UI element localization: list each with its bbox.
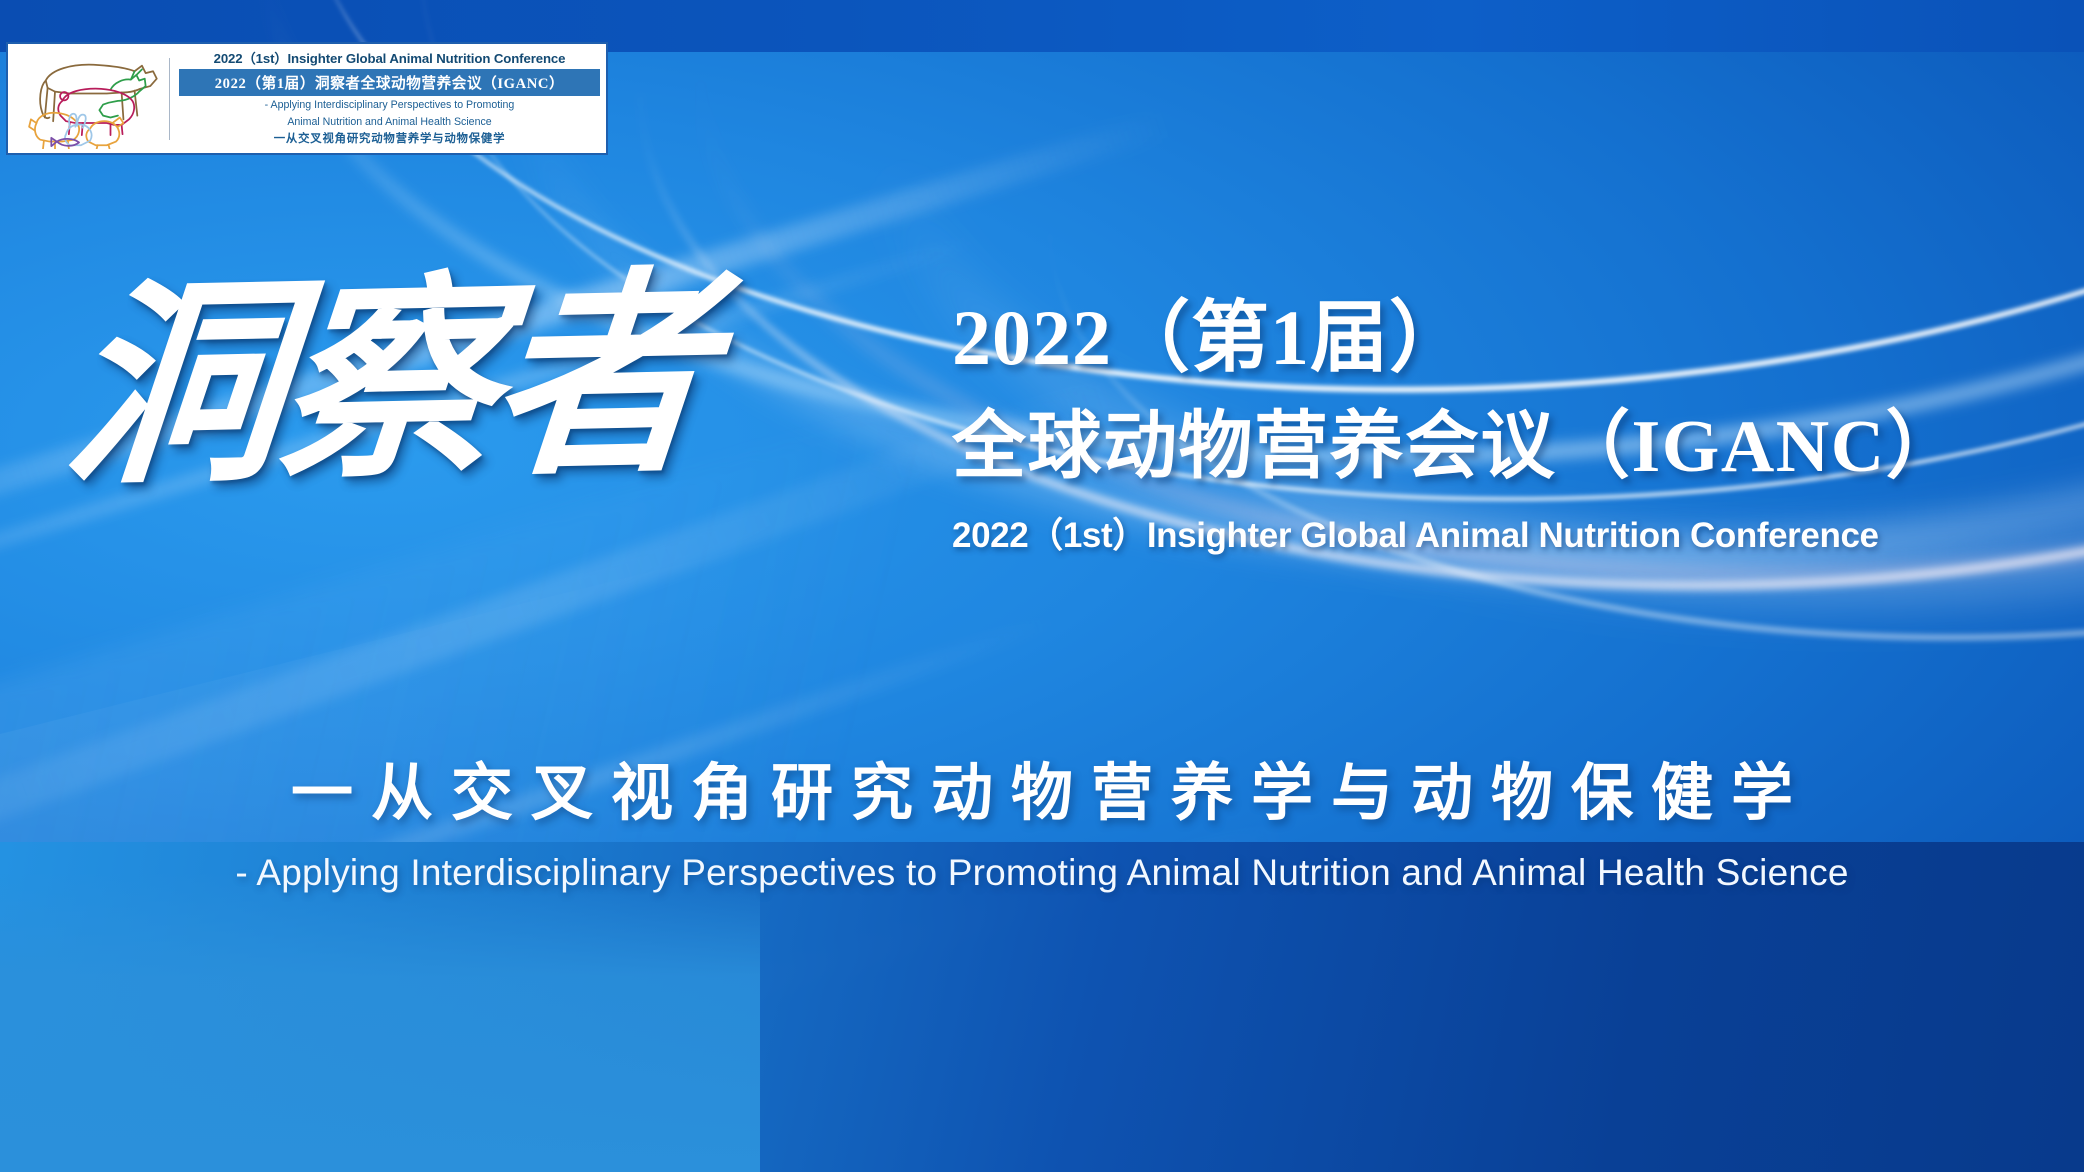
logo-subtitle-cn: 一从交叉视角研究动物营养学与动物保健学	[274, 130, 506, 146]
calligraphy-insighter: 洞察者	[57, 269, 717, 502]
logo-subtitle-en-line1: - Applying Interdisciplinary Perspective…	[265, 99, 515, 113]
hero-title-block: 2022（第1届） 全球动物营养会议（IGANC） 2022（1st）Insig…	[952, 296, 2032, 558]
bottom-left-flat-blue	[0, 872, 760, 1172]
conference-banner: 2022（1st）Insighter Global Animal Nutriti…	[0, 0, 2084, 1172]
logo-divider	[169, 58, 170, 140]
logo-chinese-title-bar: 2022（第1届）洞察者全球动物营养会议（IGANC）	[179, 69, 600, 96]
conference-logo-panel: 2022（1st）Insighter Global Animal Nutriti…	[6, 42, 608, 155]
hero-english-title: 2022（1st）Insighter Global Animal Nutriti…	[952, 507, 2032, 558]
subtitle-english: - Applying Interdisciplinary Perspective…	[0, 852, 2084, 894]
subtitle-chinese: 一从交叉视角研究动物营养学与动物保健学	[0, 742, 2084, 832]
logo-english-heading: 2022（1st）Insighter Global Animal Nutriti…	[214, 51, 566, 68]
animal-outlines-logo-icon	[18, 49, 166, 149]
hero-main-title: 全球动物营养会议（IGANC）	[952, 402, 2032, 492]
logo-text-block: 2022（1st）Insighter Global Animal Nutriti…	[179, 51, 600, 147]
logo-subtitle-en-line2: Animal Nutrition and Animal Health Scien…	[287, 116, 491, 130]
hero-year-edition: 2022（第1届）	[952, 296, 2032, 380]
